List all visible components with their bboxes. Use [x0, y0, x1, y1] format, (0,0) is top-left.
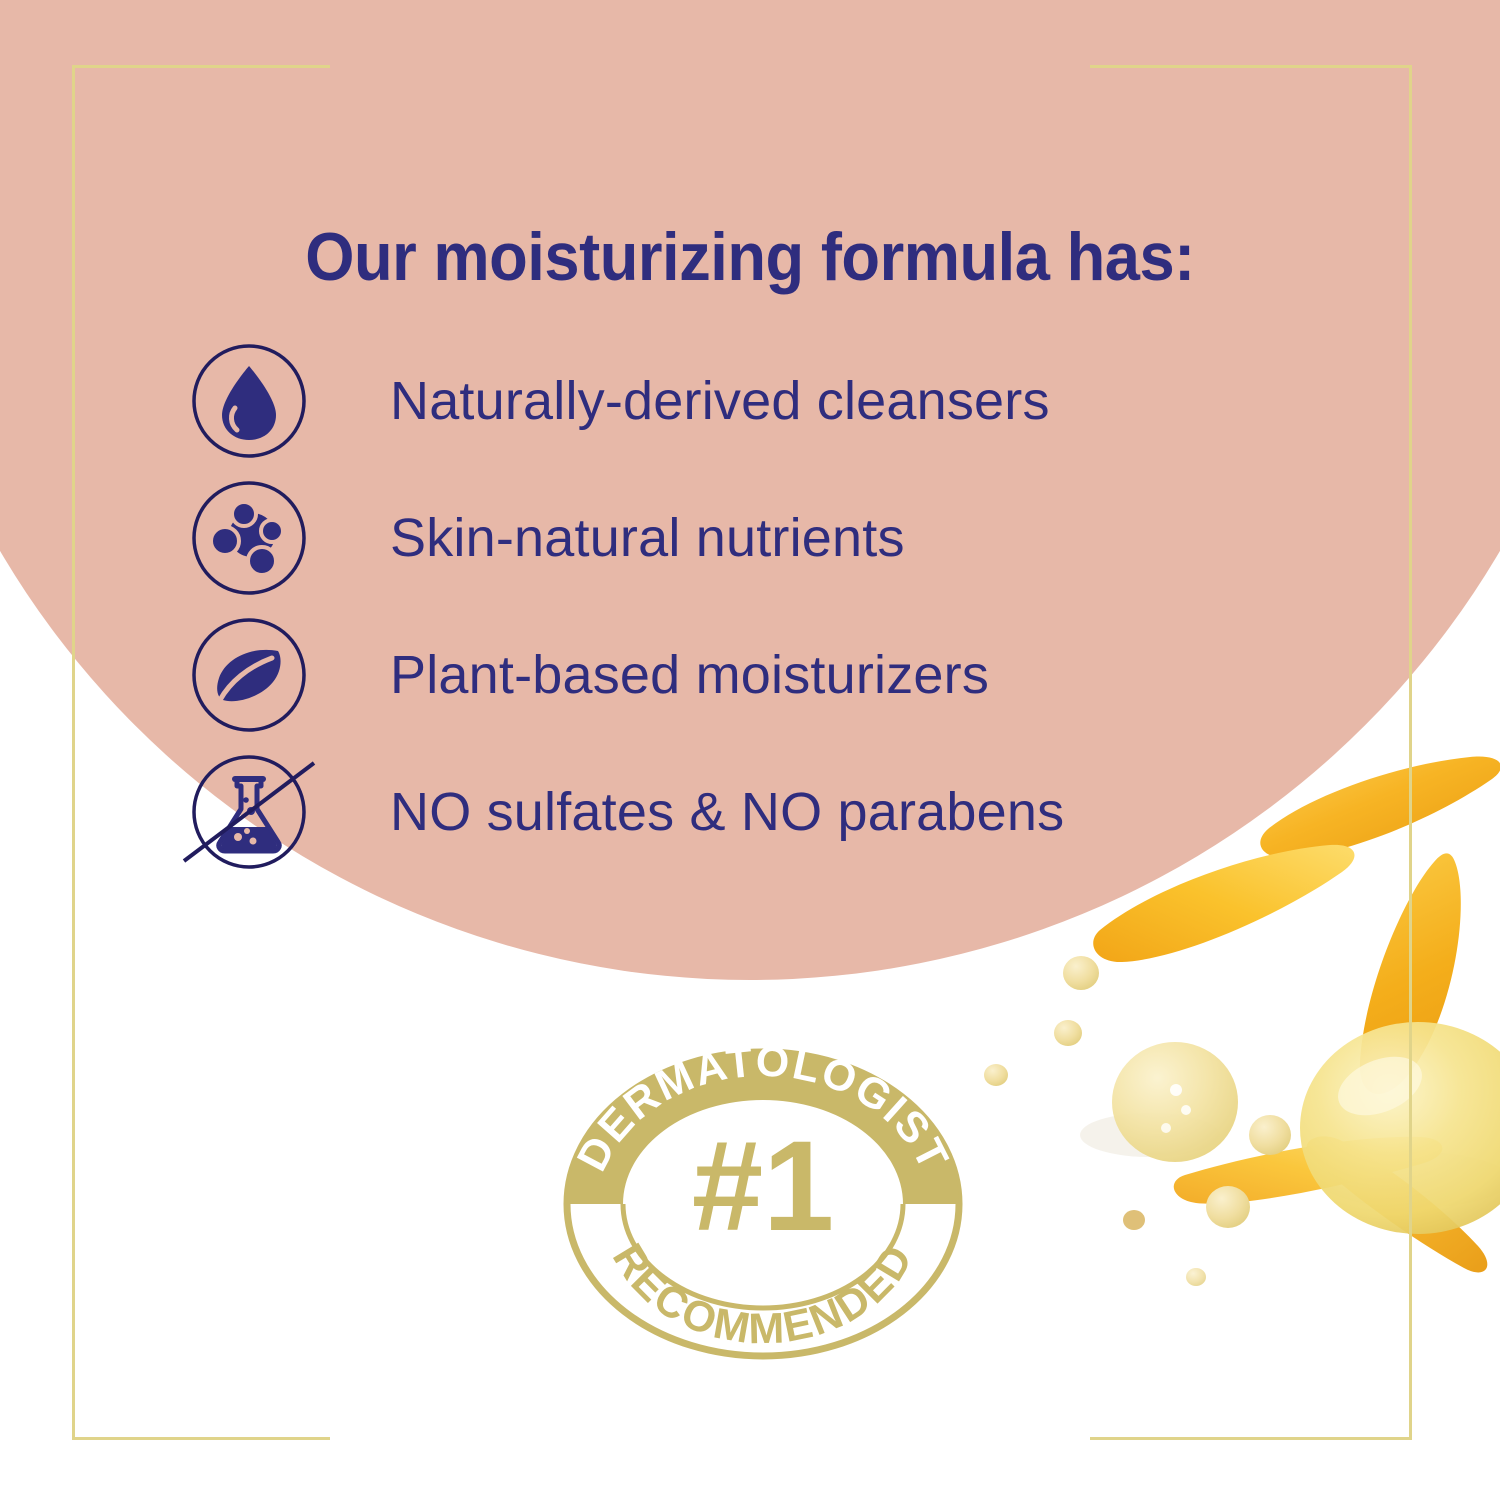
dermatologist-recommended-badge: DERMATOLOGIST RECOMMENDED #1	[563, 1048, 963, 1360]
frame-gap-top	[330, 55, 1090, 77]
badge-center-rank: #1	[692, 1115, 834, 1258]
list-item: NO sulfates & NO parabens	[190, 743, 1290, 880]
water-droplet-icon	[190, 342, 308, 460]
page-title: Our moisturizing formula has:	[53, 218, 1448, 296]
list-item-label: Skin-natural nutrients	[390, 507, 905, 569]
product-claims-graphic: Our moisturizing formula has: Naturally-…	[0, 0, 1500, 1500]
list-item: Plant-based moisturizers	[190, 606, 1290, 743]
list-item: Naturally-derived cleansers	[190, 332, 1290, 469]
no-chemicals-flask-icon	[190, 753, 308, 871]
list-item-label: NO sulfates & NO parabens	[390, 781, 1064, 843]
list-item-label: Naturally-derived cleansers	[390, 370, 1050, 432]
list-item: Skin-natural nutrients	[190, 469, 1290, 606]
frame-gap-bottom	[330, 1428, 1090, 1450]
list-item-label: Plant-based moisturizers	[390, 644, 989, 706]
leaf-icon	[190, 616, 308, 734]
nutrient-molecule-icon	[190, 479, 308, 597]
feature-list: Naturally-derived cleansers Skin-natural…	[190, 332, 1290, 880]
